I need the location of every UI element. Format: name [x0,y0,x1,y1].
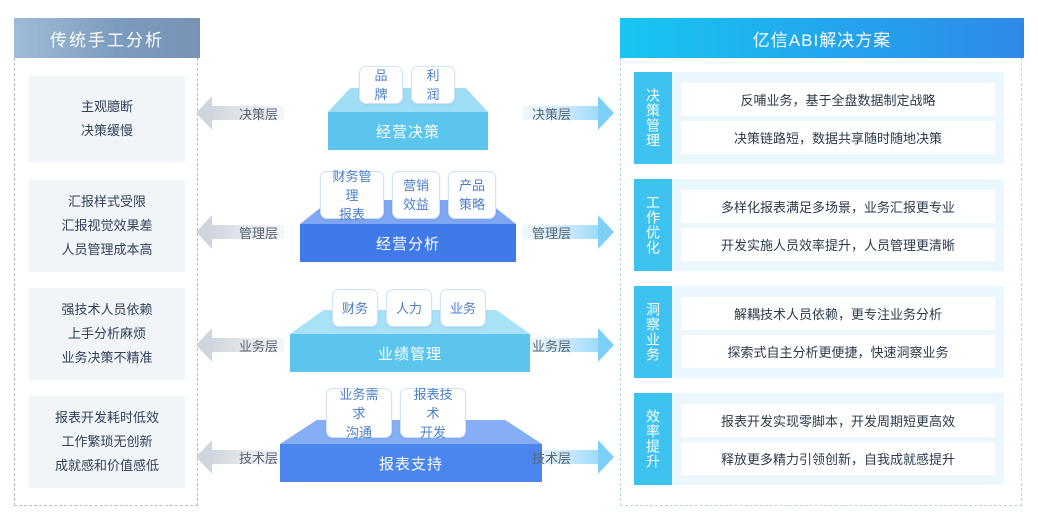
pain-point-group-1: 主观臆断 决策缓慢 [29,76,185,162]
pain-point-line: 工作繁琐无创新 [61,430,152,454]
chip-brand[interactable]: 品牌 [359,66,403,104]
infographic-canvas: 传统手工分析 主观臆断 决策缓慢 汇报样式受限 汇报视觉效果差 人员管理成本高 … [0,0,1038,526]
chip-finance[interactable]: 财务 [332,289,378,327]
solution-row: 探索式自主分析更便捷，快速洞察业务 [681,335,995,368]
pain-point-line: 强技术人员依赖 [61,298,152,322]
solution-tab-label: 决策管理 [634,72,672,164]
block-front-face: 报表支持 [280,444,542,482]
chip-business-requirement[interactable]: 业务需求 沟通 [326,388,392,438]
pain-point-line: 汇报视觉效果差 [61,214,152,238]
solution-row-list: 报表开发实现零脚本，开发周期短更高效 释放更多精力引领创新，自我成就感提升 [672,393,1004,485]
pyramid-layer-business: 业绩管理 财务 人力 业务 [290,310,530,384]
chip-finance-report[interactable]: 财务管理 报表 [320,171,384,219]
block-front-face: 业绩管理 [290,334,530,372]
chip-report-tech-dev[interactable]: 报表技术 开发 [400,388,466,438]
solution-row: 反哺业务，基于全盘数据制定战略 [681,83,995,116]
layer-chip-row: 业务需求 沟通 报表技术 开发 [326,388,466,438]
pain-point-line: 汇报样式受限 [68,190,146,214]
layer-chip-row: 财务 人力 业务 [332,289,486,327]
solution-tab-label: 工作优化 [634,179,672,271]
arrow-label: 决策层 [239,104,284,123]
pain-point-line: 人员管理成本高 [61,238,152,262]
left-panel-body: 主观臆断 决策缓慢 汇报样式受限 汇报视觉效果差 人员管理成本高 强技术人员依赖… [14,58,198,506]
pain-point-line: 业务决策不精准 [61,346,152,370]
solution-row-list: 反哺业务，基于全盘数据制定战略 决策链路短，数据共享随时随地决策 [672,72,1004,164]
pain-point-group-2: 汇报样式受限 汇报视觉效果差 人员管理成本高 [29,180,185,272]
solution-row-list: 多样化报表满足多场景，业务汇报更专业 开发实施人员效率提升，人员管理更清晰 [672,179,1004,271]
arrow-label: 技术层 [522,448,571,467]
left-panel-title: 传统手工分析 [14,18,200,58]
solution-group-work-optimization: 工作优化 多样化报表满足多场景，业务汇报更专业 开发实施人员效率提升，人员管理更… [634,179,1004,271]
block-front-face: 经营分析 [300,224,516,262]
pain-point-group-4: 报表开发耗时低效 工作繁琐无创新 成就感和价值感低 [29,396,185,488]
layer-chip-row: 品牌 利润 [359,66,455,104]
pain-point-group-3: 强技术人员依赖 上手分析麻烦 业务决策不精准 [29,288,185,380]
right-panel-body: 决策管理 反哺业务，基于全盘数据制定战略 决策链路短，数据共享随时随地决策 工作… [620,58,1022,506]
traditional-analysis-panel: 传统手工分析 主观臆断 决策缓慢 汇报样式受限 汇报视觉效果差 人员管理成本高 … [14,18,200,508]
block-front-face: 经营决策 [328,112,488,150]
solution-row: 多样化报表满足多场景，业务汇报更专业 [681,190,995,223]
arrow-label: 管理层 [239,223,284,242]
right-panel-title: 亿信ABI解决方案 [620,18,1024,58]
solution-row: 释放更多精力引领创新，自我成就感提升 [681,442,995,475]
pain-point-line: 上手分析麻烦 [68,322,146,346]
arrow-label: 技术层 [239,448,284,467]
chip-business[interactable]: 业务 [440,289,486,327]
pain-point-line: 报表开发耗时低效 [55,406,159,430]
layer-chip-row: 财务管理 报表 营销 效益 产品 策略 [320,171,496,219]
pyramid-layer-decision: 经营决策 品牌 利润 [328,88,488,162]
solution-row-list: 解耦技术人员依赖，更专注业务分析 探索式自主分析更便捷，快速洞察业务 [672,286,1004,378]
solution-row: 决策链路短，数据共享随时随地决策 [681,121,995,154]
solution-row: 开发实施人员效率提升，人员管理更清晰 [681,228,995,261]
abi-solution-panel: 亿信ABI解决方案 决策管理 反哺业务，基于全盘数据制定战略 决策链路短，数据共… [620,18,1024,508]
pain-point-line: 决策缓慢 [81,119,133,143]
solution-group-business-insight: 洞察业务 解耦技术人员依赖，更专注业务分析 探索式自主分析更便捷，快速洞察业务 [634,286,1004,378]
solution-row: 报表开发实现零脚本，开发周期短更高效 [681,404,995,437]
pain-point-line: 成就感和价值感低 [55,454,159,478]
solution-group-decision: 决策管理 反哺业务，基于全盘数据制定战略 决策链路短，数据共享随时随地决策 [634,72,1004,164]
solution-tab-label: 效率提升 [634,393,672,485]
pyramid-layer-management: 经营分析 财务管理 报表 营销 效益 产品 策略 [300,200,516,274]
pyramid-layer-technology: 报表支持 业务需求 沟通 报表技术 开发 [280,420,542,494]
chip-profit[interactable]: 利润 [411,66,455,104]
arrow-label: 决策层 [522,104,571,123]
arrow-label: 管理层 [522,223,571,242]
arrow-label: 业务层 [239,336,284,355]
arrow-label: 业务层 [522,336,571,355]
solution-row: 解耦技术人员依赖，更专注业务分析 [681,297,995,330]
pain-point-line: 主观臆断 [81,95,133,119]
solution-group-efficiency: 效率提升 报表开发实现零脚本，开发周期短更高效 释放更多精力引领创新，自我成就感… [634,393,1004,485]
chip-marketing-benefit[interactable]: 营销 效益 [392,171,440,219]
chip-hr[interactable]: 人力 [386,289,432,327]
solution-tab-label: 洞察业务 [634,286,672,378]
chip-product-strategy[interactable]: 产品 策略 [448,171,496,219]
